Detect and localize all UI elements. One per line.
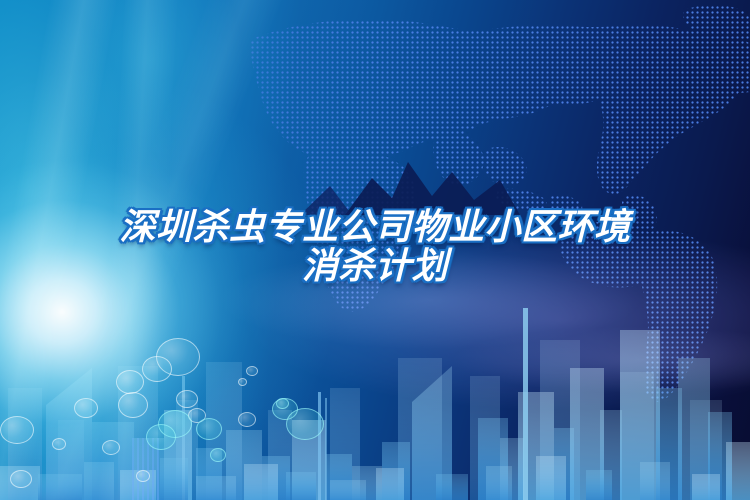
light-rays (0, 0, 750, 500)
banner: 深圳杀虫专业公司物业小区环境 消杀计划 (0, 0, 750, 500)
